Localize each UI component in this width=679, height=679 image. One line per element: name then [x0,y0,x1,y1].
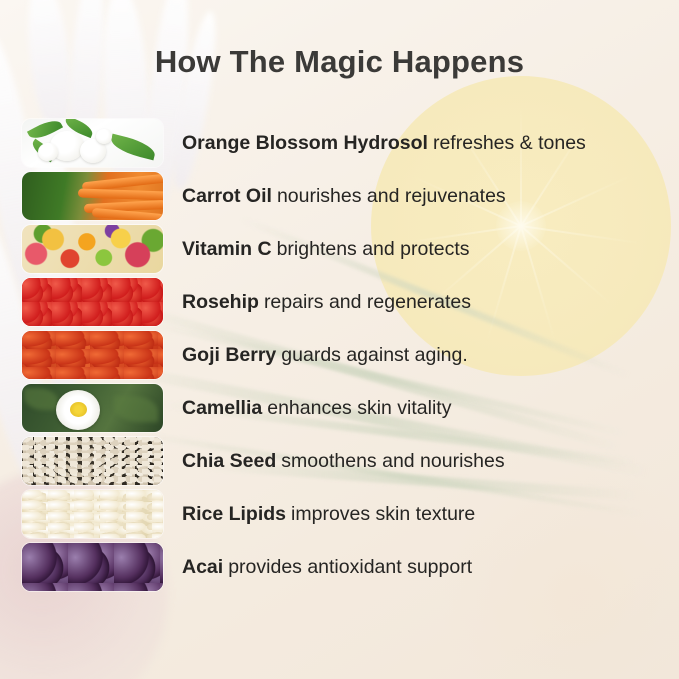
ingredient-name: Rice Lipids [182,503,286,526]
mixed-fruit-photo [22,225,163,273]
ingredient-caption: Rice Lipidsimproves skin texture [182,488,475,541]
ingredient-caption: Goji Berryguards against aging. [182,329,468,382]
infographic-canvas: How The Magic Happens Orange Blossom Hyd… [0,0,679,679]
ingredient-name: Acai [182,556,223,579]
ingredient-description: guards against aging. [281,344,467,367]
acai-berries-photo [22,543,163,591]
ingredient-description: enhances skin vitality [267,397,451,420]
ingredient-row: Acaiprovides antioxidant support [0,541,679,594]
ingredient-row: Rosehiprepairs and regenerates [0,276,679,329]
ingredient-caption: Rosehiprepairs and regenerates [182,276,471,329]
ingredient-row: Camelliaenhances skin vitality [0,382,679,435]
ingredient-caption: Camelliaenhances skin vitality [182,382,451,435]
ingredient-name: Camellia [182,397,262,420]
ingredient-row: Chia Seedsmoothens and nourishes [0,435,679,488]
ingredient-thumbnail [22,437,163,485]
ingredient-name: Chia Seed [182,450,276,473]
ingredient-thumbnail [22,331,163,379]
ingredient-thumbnail [22,119,163,167]
chia-seeds-photo [22,437,163,485]
carrot-photo [22,172,163,220]
rosehip-berries-photo [22,278,163,326]
page-title: How The Magic Happens [0,44,679,80]
ingredient-row: Vitamin Cbrightens and protects [0,223,679,276]
ingredient-thumbnail [22,225,163,273]
ingredient-row: Orange Blossom Hydrosolrefreshes & tones [0,117,679,170]
ingredient-row: Rice Lipidsimproves skin texture [0,488,679,541]
ingredient-name: Orange Blossom Hydrosol [182,132,428,155]
ingredient-caption: Chia Seedsmoothens and nourishes [182,435,505,488]
ingredient-caption: Orange Blossom Hydrosolrefreshes & tones [182,117,586,170]
ingredient-thumbnail [22,384,163,432]
ingredient-thumbnail [22,543,163,591]
ingredient-description: provides antioxidant support [228,556,472,579]
ingredient-name: Carrot Oil [182,185,272,208]
ingredient-name: Rosehip [182,291,259,314]
ingredient-description: smoothens and nourishes [281,450,504,473]
ingredient-description: nourishes and rejuvenates [277,185,506,208]
ingredient-row: Goji Berryguards against aging. [0,329,679,382]
ingredient-caption: Acaiprovides antioxidant support [182,541,472,594]
ingredient-name: Vitamin C [182,238,272,261]
ingredient-caption: Carrot Oilnourishes and rejuvenates [182,170,506,223]
ingredient-list: Orange Blossom Hydrosolrefreshes & tones… [0,117,679,594]
orange-blossom-photo [22,119,163,167]
ingredient-thumbnail [22,172,163,220]
ingredient-description: repairs and regenerates [264,291,471,314]
ingredient-thumbnail [22,278,163,326]
ingredient-thumbnail [22,490,163,538]
ingredient-description: brightens and protects [277,238,470,261]
ingredient-description: refreshes & tones [433,132,586,155]
ingredient-row: Carrot Oilnourishes and rejuvenates [0,170,679,223]
ingredient-description: improves skin texture [291,503,475,526]
rice-grains-photo [22,490,163,538]
camellia-flower-photo [22,384,163,432]
ingredient-caption: Vitamin Cbrightens and protects [182,223,470,276]
goji-berries-photo [22,331,163,379]
ingredient-name: Goji Berry [182,344,276,367]
